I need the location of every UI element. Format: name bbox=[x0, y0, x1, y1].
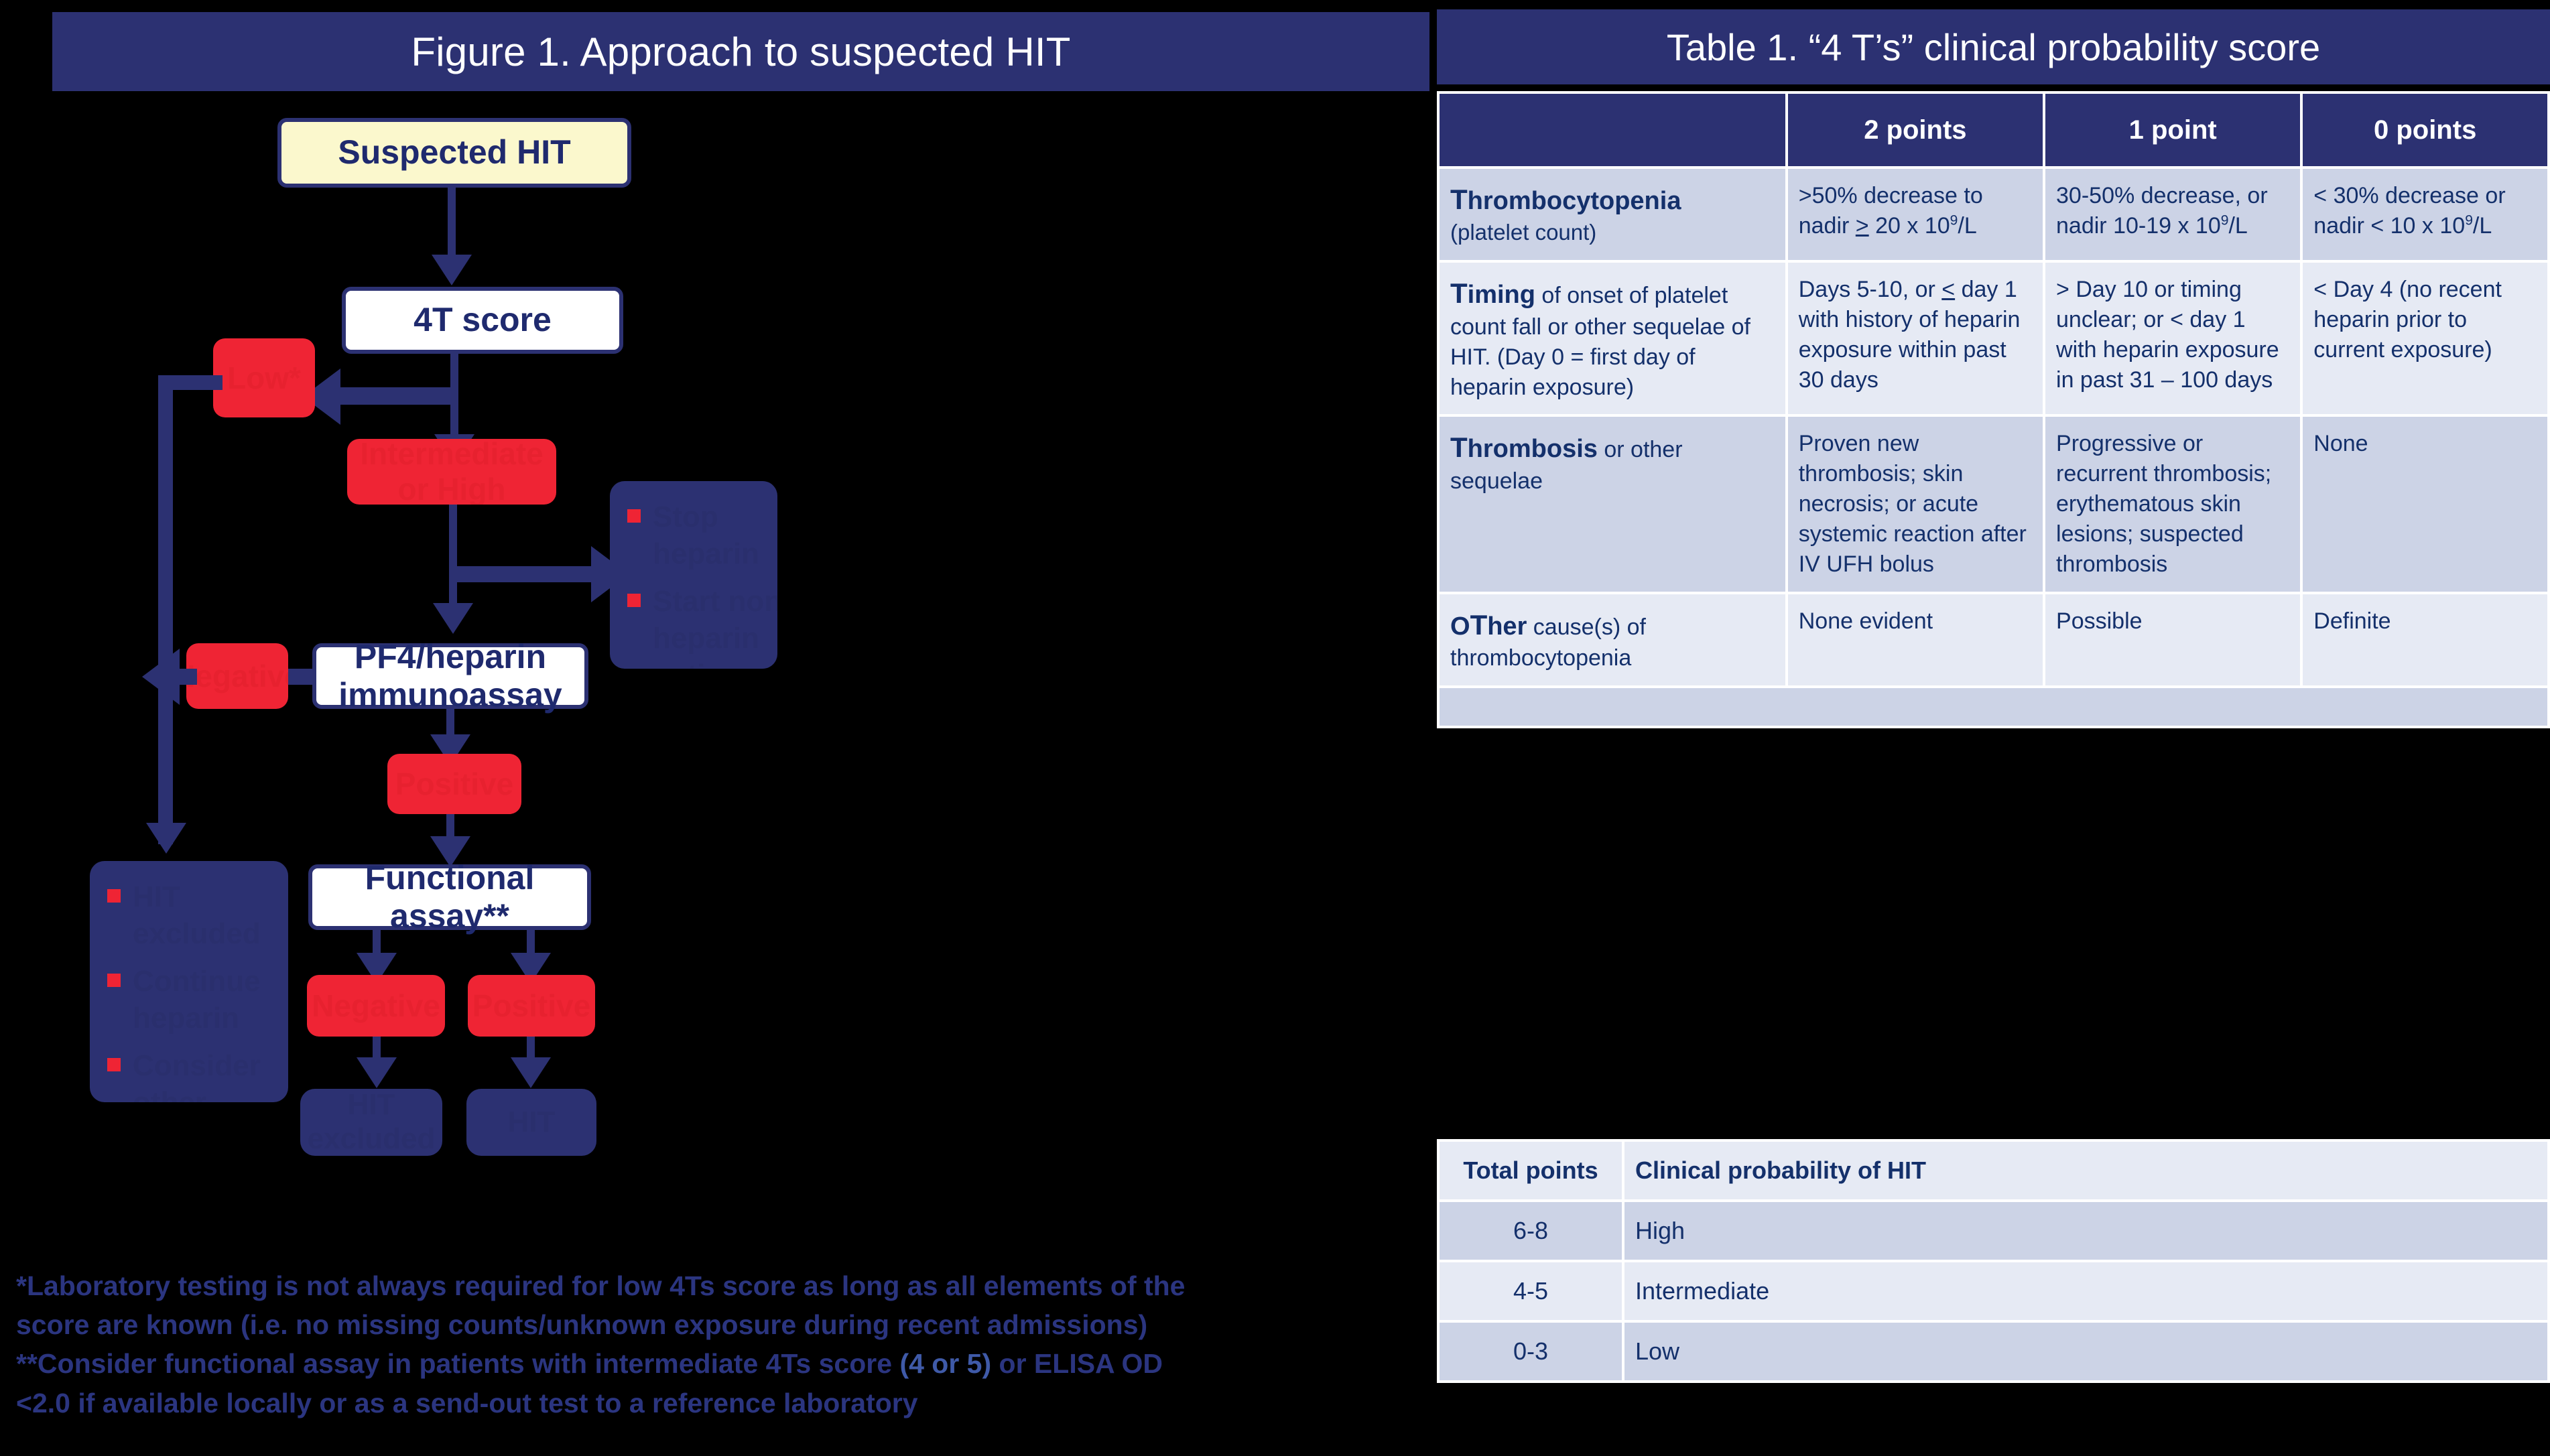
cell-2-points: >50% decrease to nadir > 20 x 109/L bbox=[1788, 169, 2043, 260]
excluded-action-3: Consider other causes bbox=[133, 1047, 271, 1102]
criterion-initial: T bbox=[1450, 432, 1468, 463]
totals-points-low: 0-3 bbox=[1440, 1323, 1622, 1380]
bullet-square-icon bbox=[627, 594, 641, 607]
cell-0-points: < 30% decrease or nadir < 10 x 109/L bbox=[2303, 169, 2547, 260]
criterion-word: iming bbox=[1468, 281, 1535, 309]
totals-points-high: 6-8 bbox=[1440, 1202, 1622, 1260]
table-row: Thrombosis or other sequelae Proven new … bbox=[1440, 417, 2547, 591]
arrow-rail-to-hit-excluded bbox=[146, 823, 186, 854]
list-item: Stop heparin bbox=[627, 499, 760, 572]
figure-footnotes: *Laboratory testing is not always requir… bbox=[16, 1266, 1417, 1422]
node-functional-assay-label: Functional assay** bbox=[312, 859, 587, 936]
criterion-initial: T bbox=[1450, 277, 1468, 309]
node-immunoassay-positive-label: Positive bbox=[395, 767, 513, 802]
node-intermediate-or-high: Intermediate or High bbox=[347, 439, 556, 505]
connector-interm-down bbox=[449, 505, 457, 617]
treat-action-1: Stop heparin bbox=[653, 499, 760, 572]
bullet-square-icon bbox=[107, 1058, 121, 1071]
connector-low-to-rail bbox=[158, 375, 222, 390]
totals-row: 0-3 Low bbox=[1440, 1323, 2547, 1380]
node-4t-score: 4T score bbox=[342, 287, 623, 354]
criterion-word: her bbox=[1487, 612, 1527, 641]
connector-interm-right bbox=[449, 566, 598, 582]
node-immunoassay-negative-label: Negative bbox=[186, 659, 288, 694]
bullet-square-icon bbox=[107, 974, 121, 987]
bullet-square-icon bbox=[627, 509, 641, 523]
criterion-initial: T bbox=[1470, 609, 1488, 641]
table-row: OTher cause(s) of thrombocytopenia None … bbox=[1440, 594, 2547, 685]
totals-probability-high: High bbox=[1624, 1202, 2547, 1260]
excluded-action-2: Continue heparin bbox=[133, 963, 271, 1037]
excluded-action-1: HIT excluded bbox=[133, 878, 271, 952]
table-panel: Table 1. “4 T’s” clinical probability sc… bbox=[1437, 0, 2550, 1456]
totals-row: 4-5 Intermediate bbox=[1440, 1262, 2547, 1320]
cell-1-point: Progressive or recurrent thrombosis; ery… bbox=[2045, 417, 2300, 591]
table-header-row: 2 points 1 point 0 points bbox=[1440, 94, 2547, 166]
four-ts-score-table: 2 points 1 point 0 points Thrombocytopen… bbox=[1437, 91, 2550, 728]
node-treat-actions: Stop heparin Start non-heparin anticoagu… bbox=[610, 481, 777, 669]
connector-suspected-to-4t bbox=[448, 188, 456, 260]
node-hit-terminal-label: HIT bbox=[508, 1106, 556, 1140]
node-hit-terminal: HIT bbox=[466, 1089, 596, 1156]
node-low-score: Low* bbox=[213, 338, 315, 417]
criterion-thrombocytopenia: Thrombocytopenia (platelet count) bbox=[1440, 169, 1785, 260]
cell-0-points: Definite bbox=[2303, 594, 2547, 685]
criterion-initial: T bbox=[1450, 184, 1468, 215]
figure-panel: Figure 1. Approach to suspected HIT Susp… bbox=[0, 0, 1431, 1456]
table-row: Timing of onset of platelet count fall o… bbox=[1440, 263, 2547, 414]
criterion-timing: Timing of onset of platelet count fall o… bbox=[1440, 263, 1785, 414]
header-2-points: 2 points bbox=[1788, 94, 2043, 166]
criterion-prefix: O bbox=[1450, 612, 1470, 641]
connector-4t-to-low-horizontal bbox=[335, 387, 457, 405]
list-item: Start non-heparin anticoagulant bbox=[627, 583, 760, 669]
list-item: Consider other causes bbox=[107, 1047, 271, 1102]
node-functional-assay: Functional assay** bbox=[308, 864, 591, 930]
node-immunoassay-positive: Positive bbox=[387, 754, 521, 814]
total-points-table: Total points Clinical probability of HIT… bbox=[1437, 1139, 2550, 1383]
node-hit-excluded-actions: HIT excluded Continue heparin Consider o… bbox=[90, 861, 288, 1102]
node-immunoassay-negative: Negative bbox=[186, 643, 288, 709]
arrow-suspected-to-4t bbox=[432, 255, 472, 285]
cell-2-points: Days 5-10, or < day 1 with history of he… bbox=[1788, 263, 2043, 414]
table-row: Thrombocytopenia (platelet count) >50% d… bbox=[1440, 169, 2547, 260]
footnote-line-2: score are known (i.e. no missing counts/… bbox=[16, 1305, 1417, 1344]
figure-title: Figure 1. Approach to suspected HIT bbox=[411, 29, 1070, 75]
cell-2-points: None evident bbox=[1788, 594, 2043, 685]
node-pf4-immunoassay: PF4/heparin immunoassay bbox=[312, 643, 588, 709]
cell-2-points: Proven new thrombosis; skin necrosis; or… bbox=[1788, 417, 2043, 591]
node-suspected-hit-label: Suspected HIT bbox=[338, 133, 570, 172]
node-functional-positive-label: Positive bbox=[472, 988, 590, 1024]
table-spacer-row bbox=[1440, 688, 2547, 726]
node-functional-positive: Positive bbox=[468, 975, 595, 1037]
connector-left-rail-vertical bbox=[158, 375, 173, 844]
footnote-line-4: <2.0 if available locally or as a send-o… bbox=[16, 1384, 1417, 1422]
node-pf4-immunoassay-label: PF4/heparin immunoassay bbox=[316, 638, 584, 715]
criterion-other-causes: OTher cause(s) of thrombocytopenia bbox=[1440, 594, 1785, 685]
header-1-point: 1 point bbox=[2045, 94, 2300, 166]
node-functional-negative-label: Negative bbox=[312, 988, 440, 1024]
totals-probability-intermediate: Intermediate bbox=[1624, 1262, 2547, 1320]
node-hit-excluded-terminal-label: HIT excluded bbox=[300, 1089, 442, 1156]
footnote-line-3: **Consider functional assay in patients … bbox=[16, 1344, 1417, 1383]
arrow-fpos-to-hit bbox=[511, 1057, 551, 1088]
cell-0-points: < Day 4 (no recent heparin prior to curr… bbox=[2303, 263, 2547, 414]
criterion-word: hrombocytopenia bbox=[1468, 187, 1681, 215]
criterion-subtext: (platelet count) bbox=[1450, 220, 1596, 245]
bullet-square-icon bbox=[107, 889, 121, 903]
footnote-line-1: *Laboratory testing is not always requir… bbox=[16, 1266, 1417, 1305]
table-title: Table 1. “4 T’s” clinical probability sc… bbox=[1667, 25, 2320, 69]
footnote-line-3-highlight: (4 or 5) bbox=[899, 1348, 991, 1379]
list-item: Continue heparin bbox=[107, 963, 271, 1037]
spacer-cell bbox=[1440, 688, 2547, 726]
cell-1-point: 30-50% decrease, or nadir 10-19 x 109/L bbox=[2045, 169, 2300, 260]
figure-title-bar: Figure 1. Approach to suspected HIT bbox=[52, 12, 1429, 91]
node-4t-score-label: 4T score bbox=[413, 301, 552, 340]
node-intermediate-or-high-label: Intermediate or High bbox=[347, 439, 556, 505]
node-hit-excluded-terminal: HIT excluded bbox=[300, 1089, 442, 1156]
criterion-word: hrombosis bbox=[1468, 435, 1598, 463]
arrow-interm-to-pf4 bbox=[433, 603, 473, 634]
header-criterion bbox=[1440, 94, 1785, 166]
cell-0-points: None bbox=[2303, 417, 2547, 591]
criterion-thrombosis: Thrombosis or other sequelae bbox=[1440, 417, 1785, 591]
list-item: HIT excluded bbox=[107, 878, 271, 952]
cell-1-point: Possible bbox=[2045, 594, 2300, 685]
cell-1-point: > Day 10 or timing unclear; or < day 1 w… bbox=[2045, 263, 2300, 414]
node-functional-negative: Negative bbox=[307, 975, 445, 1037]
node-low-score-label: Low* bbox=[227, 360, 301, 396]
table-title-bar: Table 1. “4 T’s” clinical probability sc… bbox=[1437, 9, 2550, 84]
treat-action-2: Start non-heparin anticoagulant bbox=[653, 583, 777, 669]
arrow-fneg-to-excluded bbox=[357, 1057, 397, 1088]
footnote-line-3-b: or ELISA OD bbox=[991, 1348, 1163, 1379]
totals-header-row: Total points Clinical probability of HIT bbox=[1440, 1142, 2547, 1199]
totals-row: 6-8 High bbox=[1440, 1202, 2547, 1260]
totals-probability-low: Low bbox=[1624, 1323, 2547, 1380]
totals-header-probability: Clinical probability of HIT bbox=[1624, 1142, 2547, 1199]
totals-points-intermediate: 4-5 bbox=[1440, 1262, 1622, 1320]
header-0-points: 0 points bbox=[2303, 94, 2547, 166]
node-suspected-hit: Suspected HIT bbox=[277, 118, 631, 188]
totals-header-points: Total points bbox=[1440, 1142, 1622, 1199]
footnote-line-3-a: **Consider functional assay in patients … bbox=[16, 1348, 899, 1379]
